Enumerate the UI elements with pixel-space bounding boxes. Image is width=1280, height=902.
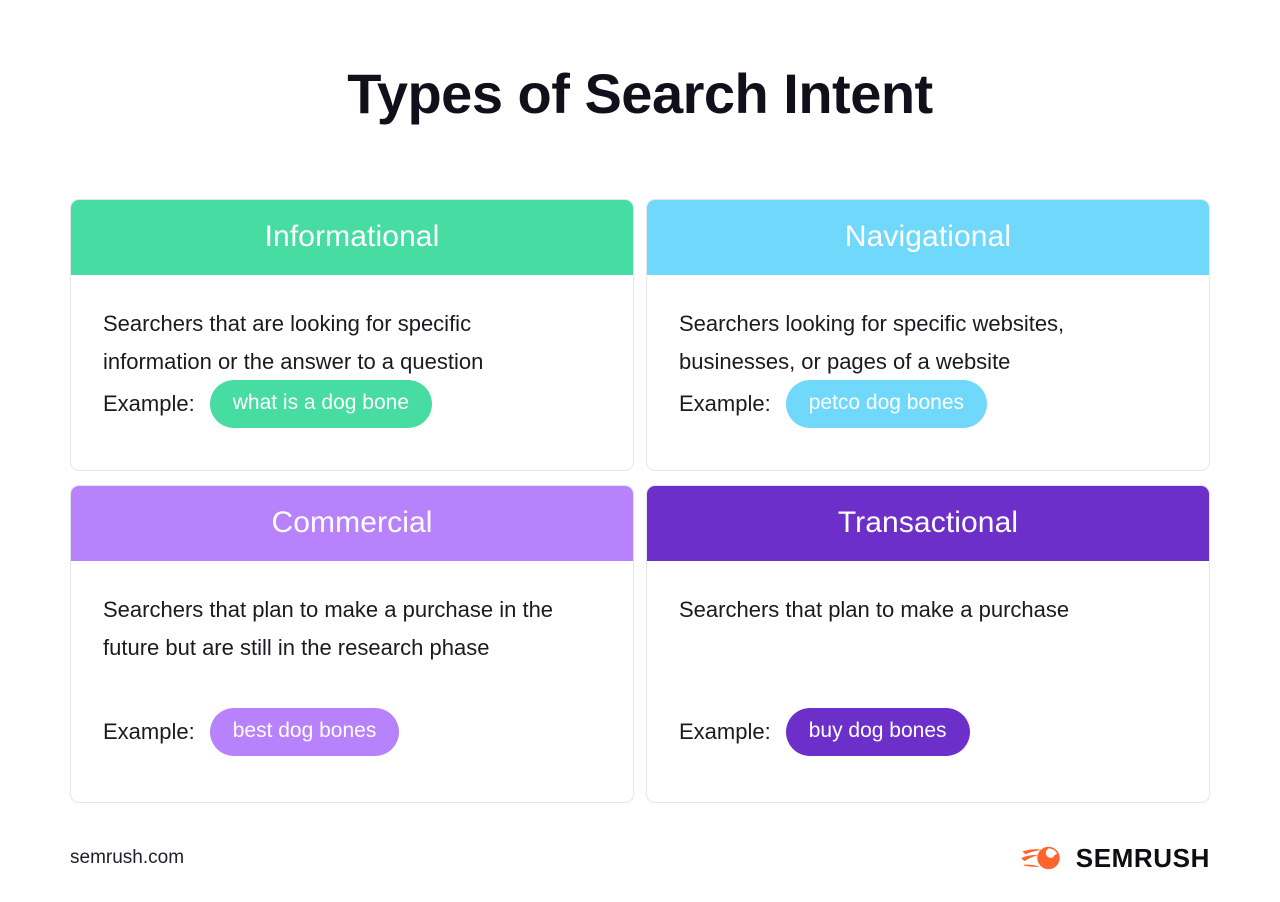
intent-card-informational: Informational Searchers that are looking…: [70, 199, 634, 471]
infographic-page: Types of Search Intent Informational Sea…: [0, 0, 1280, 902]
card-description: Searchers looking for specific websites,…: [679, 305, 1149, 381]
card-heading: Commercial: [271, 506, 432, 540]
semrush-wordmark: SEMRUSH: [1076, 844, 1210, 872]
example-query-pill: buy dog bones: [786, 708, 970, 756]
example-row: Example: best dog bones: [103, 708, 399, 756]
example-query-pill: best dog bones: [210, 708, 400, 756]
card-description: Searchers that plan to make a purchase: [679, 591, 1149, 629]
example-label: Example:: [679, 390, 771, 418]
example-row: Example: buy dog bones: [679, 708, 970, 756]
card-header-navigational: Navigational: [646, 199, 1210, 275]
intent-card-navigational: Navigational Searchers looking for speci…: [646, 199, 1210, 471]
footer: semrush.com SEMRUSH: [70, 840, 1210, 876]
intent-card-transactional: Transactional Searchers that plan to mak…: [646, 485, 1210, 803]
example-query-pill: petco dog bones: [786, 380, 987, 428]
semrush-logo: SEMRUSH: [1021, 844, 1210, 872]
intent-card-commercial: Commercial Searchers that plan to make a…: [70, 485, 634, 803]
card-description: Searchers that are looking for specific …: [103, 305, 573, 381]
card-body-informational: Searchers that are looking for specific …: [71, 275, 633, 470]
card-description: Searchers that plan to make a purchase i…: [103, 591, 573, 667]
card-body-commercial: Searchers that plan to make a purchase i…: [71, 561, 633, 802]
example-row: Example: petco dog bones: [679, 380, 987, 428]
card-header-transactional: Transactional: [646, 485, 1210, 561]
example-label: Example:: [679, 718, 771, 746]
card-body-navigational: Searchers looking for specific websites,…: [647, 275, 1209, 470]
card-header-informational: Informational: [70, 199, 634, 275]
example-row: Example: what is a dog bone: [103, 380, 432, 428]
card-heading: Navigational: [845, 220, 1011, 254]
semrush-comet-icon: [1021, 844, 1065, 872]
example-query-pill: what is a dog bone: [210, 380, 432, 428]
example-label: Example:: [103, 718, 195, 746]
example-label: Example:: [103, 390, 195, 418]
card-header-commercial: Commercial: [70, 485, 634, 561]
page-title: Types of Search Intent: [0, 58, 1280, 130]
card-body-transactional: Searchers that plan to make a purchase E…: [647, 561, 1209, 802]
intent-card-grid: Informational Searchers that are looking…: [70, 199, 1210, 803]
footer-url: semrush.com: [70, 846, 184, 870]
card-heading: Informational: [265, 220, 440, 254]
card-heading: Transactional: [838, 506, 1018, 540]
